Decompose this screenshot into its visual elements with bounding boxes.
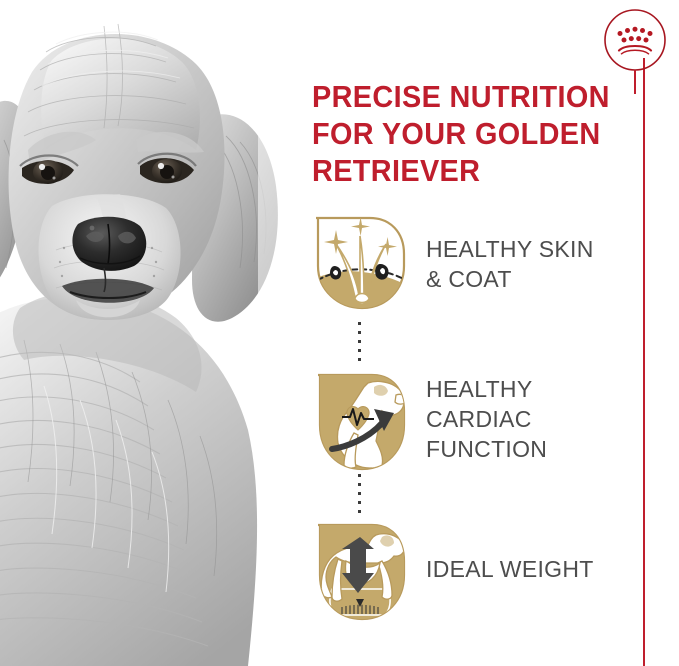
benefit-label-line: FUNCTION <box>426 434 642 464</box>
dotted-connector <box>358 322 362 366</box>
benefit-label: HEALTHY CARDIAC FUNCTION <box>408 374 642 464</box>
dog-photo-illustration <box>0 0 300 666</box>
benefit-label-line: HEALTHY SKIN <box>426 234 642 264</box>
benefit-row: HEALTHY SKIN & COAT <box>312 214 642 314</box>
benefit-row: IDEAL WEIGHT <box>312 514 642 624</box>
benefit-label: HEALTHY SKIN & COAT <box>408 234 642 294</box>
headline-line-2: FOR YOUR GOLDEN <box>312 115 610 152</box>
dotted-connector <box>358 474 362 516</box>
headline-line-3: RETRIEVER <box>312 152 610 189</box>
right-vertical-red-rule <box>643 58 645 666</box>
benefit-label: IDEAL WEIGHT <box>408 554 642 584</box>
benefit-label-line: IDEAL WEIGHT <box>426 554 642 584</box>
benefit-label-line: & COAT <box>426 264 642 294</box>
benefit-label-line: HEALTHY <box>426 374 642 404</box>
dog-heart-cardiac-icon <box>312 369 408 469</box>
packaging-panel: PRECISE NUTRITION FOR YOUR GOLDEN RETRIE… <box>0 0 679 666</box>
royal-canin-crown-icon <box>603 8 667 72</box>
skin-and-coat-follicle-icon <box>312 214 408 314</box>
golden-retriever-photo <box>0 0 300 666</box>
benefit-row: HEALTHY CARDIAC FUNCTION <box>312 364 642 474</box>
dog-nose <box>72 217 146 271</box>
dog-on-weight-scale-icon <box>312 519 408 619</box>
benefit-label-line: CARDIAC <box>426 404 642 434</box>
logo-stem <box>634 70 636 94</box>
page-title: PRECISE NUTRITION FOR YOUR GOLDEN RETRIE… <box>312 78 632 189</box>
headline-line-1: PRECISE NUTRITION <box>312 78 610 115</box>
